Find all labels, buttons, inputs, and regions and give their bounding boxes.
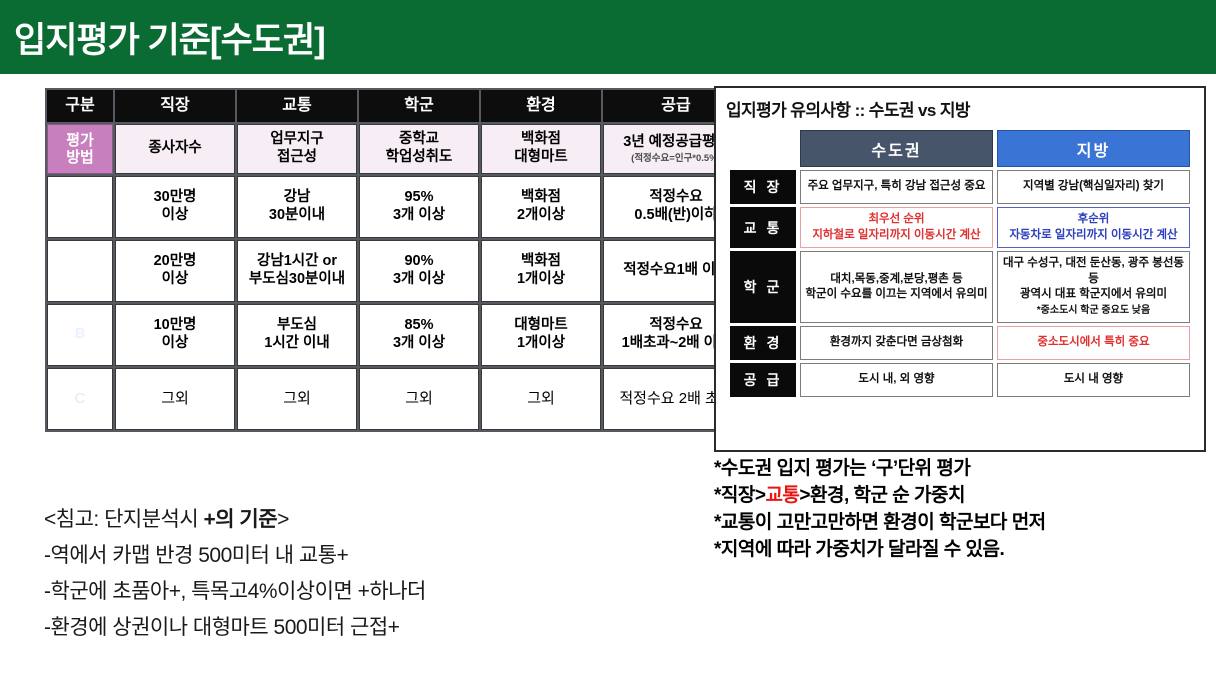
comparison-label-jikjang: 직 장 (730, 170, 796, 204)
right-note-2-highlight: 교통 (765, 485, 799, 506)
right-note-2-post: >환경, 학군 순 가중치 (799, 485, 965, 506)
left-note-line-3: -학군에 초품아+, 특목고4%이상이면 +하나더 (44, 574, 684, 610)
right-note-line-1: *수도권 입지 평가는 ‘구’단위 평가 (714, 456, 1214, 483)
row-label-method: 평가 방법 (47, 124, 113, 174)
right-note-line-2: *직장>교통>환경, 학군 순 가중치 (714, 483, 1214, 510)
cell-b-jikjang: 10만명 이상 (115, 304, 235, 366)
comparison-cell-hwangyeong-capital: 환경까지 갖춘다면 금상첨화 (800, 326, 993, 360)
right-note-2-pre: *직장> (714, 485, 765, 506)
comparison-cell-gonggeup-capital: 도시 내, 외 영향 (800, 363, 993, 397)
cell-s-hwangyeong: 백화점 2개이상 (481, 176, 601, 238)
comparison-cell-gonggeup-local: 도시 내 영향 (997, 363, 1190, 397)
left-note-heading-pre: <침고: 단지분석시 (44, 508, 204, 531)
cell-method-hakgun: 중학교 학업성취도 (359, 124, 479, 174)
comparison-header-capital: 수도권 (800, 130, 993, 167)
left-note-heading: <침고: 단지분석시 +의 기준> (44, 502, 684, 538)
cell-b-hwangyeong: 대형마트 1개이상 (481, 304, 601, 366)
grade-badge-b: B (47, 304, 113, 366)
column-header-gubun: 구분 (47, 90, 113, 122)
table-row-grade-s: S 30만명 이상 강남 30분이내 95% 3개 이상 백화점 2개이상 적정… (47, 176, 749, 238)
row-label-method-line1: 평가 (66, 132, 94, 149)
right-note-line-4: *지역에 따라 가중치가 달라질 수 있음. (714, 537, 1214, 564)
comparison-row-hwangyeong: 환 경 환경까지 갖춘다면 금상첨화 중소도시에서 특히 중요 (730, 326, 1190, 360)
comparison-header-local: 지방 (997, 130, 1190, 167)
table-row-grade-c: C 그외 그외 그외 그외 적정수요 2배 초과 (47, 368, 749, 430)
comparison-panel-title: 입지평가 유의사항 :: 수도권 vs 지방 (726, 96, 1194, 121)
cell-c-gyotong: 그외 (237, 368, 357, 430)
cell-b-gyotong: 부도심 1시간 이내 (237, 304, 357, 366)
cell-b-hakgun: 85% 3개 이상 (359, 304, 479, 366)
comparison-cell-gyotong-capital: 최우선 순위 지하철로 일자리까지 이동시간 계산 (800, 207, 993, 248)
comparison-cell-gyotong-local: 후순위 자동차로 일자리까지 이동시간 계산 (997, 207, 1190, 248)
hakgun-local-footnote: *중소도시 학군 중요도 낮음 (1037, 305, 1150, 316)
comparison-header-row: 수도권 지방 (730, 130, 1190, 167)
cell-a-hwangyeong: 백화점 1개이상 (481, 240, 601, 302)
cell-c-hwangyeong: 그외 (481, 368, 601, 430)
cell-method-hwangyeong: 백화점 대형마트 (481, 124, 601, 174)
comparison-cell-jikjang-local: 지역별 강남(핵심일자리) 찾기 (997, 170, 1190, 204)
comparison-cell-hakgun-capital: 대치,목동,중계,분당,평촌 등 학군이 수요를 이끄는 지역에서 유의미 (800, 251, 993, 323)
table-row-grade-b: B 10만명 이상 부도심 1시간 이내 85% 3개 이상 대형마트 1개이상… (47, 304, 749, 366)
row-label-method-line2: 방법 (66, 149, 94, 166)
left-note-line-4: -환경에 상권이나 대형마트 500미터 근접+ (44, 610, 684, 646)
comparison-row-gyotong: 교 통 최우선 순위 지하철로 일자리까지 이동시간 계산 후순위 자동차로 일… (730, 207, 1190, 248)
table-row-grade-a: A 20만명 이상 강남1시간 or 부도심30분이내 90% 3개 이상 백화… (47, 240, 749, 302)
cell-method-gyotong: 업무지구 접근성 (237, 124, 357, 174)
grade-badge-c: C (47, 368, 113, 430)
left-note-heading-strong: +의 기준 (204, 508, 278, 531)
left-note-heading-post: > (277, 508, 289, 531)
comparison-cell-jikjang-capital: 주요 업무지구, 특히 강남 접근성 중요 (800, 170, 993, 204)
grade-badge-s: S (47, 176, 113, 238)
column-header-jikjang: 직장 (115, 90, 235, 122)
cell-c-hakgun: 그외 (359, 368, 479, 430)
column-header-gyotong: 교통 (237, 90, 357, 122)
column-header-hwangyeong: 환경 (481, 90, 601, 122)
left-notes-block: <침고: 단지분석시 +의 기준> -역에서 카맵 반경 500미터 내 교통+… (44, 502, 684, 646)
comparison-label-hakgun: 학 군 (730, 251, 796, 323)
cell-a-gyotong: 강남1시간 or 부도심30분이내 (237, 240, 357, 302)
location-grade-table: 구분 직장 교통 학군 환경 공급 평가 방법 종사자수 업무지구 접근성 중학… (45, 88, 751, 432)
page-title: 입지평가 기준[수도권] (0, 12, 325, 63)
column-header-hakgun: 학군 (359, 90, 479, 122)
comparison-cell-hakgun-local: 대구 수성구, 대전 둔산동, 광주 봉선동 등 광역시 대표 학군지에서 유의… (997, 251, 1190, 323)
table-header-row: 구분 직장 교통 학군 환경 공급 (47, 90, 749, 122)
comparison-panel: 입지평가 유의사항 :: 수도권 vs 지방 수도권 지방 직 장 주요 업무지… (714, 86, 1206, 452)
left-note-line-2: -역에서 카맵 반경 500미터 내 교통+ (44, 538, 684, 574)
comparison-row-gonggeup: 공 급 도시 내, 외 영향 도시 내 영향 (730, 363, 1190, 397)
cell-a-jikjang: 20만명 이상 (115, 240, 235, 302)
table-row-method: 평가 방법 종사자수 업무지구 접근성 중학교 학업성취도 백화점 대형마트 3… (47, 124, 749, 174)
cell-s-gyotong: 강남 30분이내 (237, 176, 357, 238)
cell-a-hakgun: 90% 3개 이상 (359, 240, 479, 302)
grade-badge-a: A (47, 240, 113, 302)
right-notes-block: *수도권 입지 평가는 ‘구’단위 평가 *직장>교통>환경, 학군 순 가중치… (714, 456, 1214, 564)
slide-title-bar: 입지평가 기준[수도권] (0, 0, 1216, 74)
right-note-line-3: *교통이 고만고만하면 환경이 학군보다 먼저 (714, 510, 1214, 537)
cell-method-jikjang: 종사자수 (115, 124, 235, 174)
cell-c-jikjang: 그외 (115, 368, 235, 430)
comparison-label-hwangyeong: 환 경 (730, 326, 796, 360)
comparison-label-gonggeup: 공 급 (730, 363, 796, 397)
comparison-row-hakgun: 학 군 대치,목동,중계,분당,평촌 등 학군이 수요를 이끄는 지역에서 유의… (730, 251, 1190, 323)
cell-s-jikjang: 30만명 이상 (115, 176, 235, 238)
comparison-header-spacer (730, 130, 796, 167)
comparison-table: 수도권 지방 직 장 주요 업무지구, 특히 강남 접근성 중요 지역별 강남(… (726, 127, 1194, 400)
comparison-row-jikjang: 직 장 주요 업무지구, 특히 강남 접근성 중요 지역별 강남(핵심일자리) … (730, 170, 1190, 204)
cell-s-hakgun: 95% 3개 이상 (359, 176, 479, 238)
comparison-label-gyotong: 교 통 (730, 207, 796, 248)
comparison-cell-hwangyeong-local: 중소도시에서 특히 중요 (997, 326, 1190, 360)
